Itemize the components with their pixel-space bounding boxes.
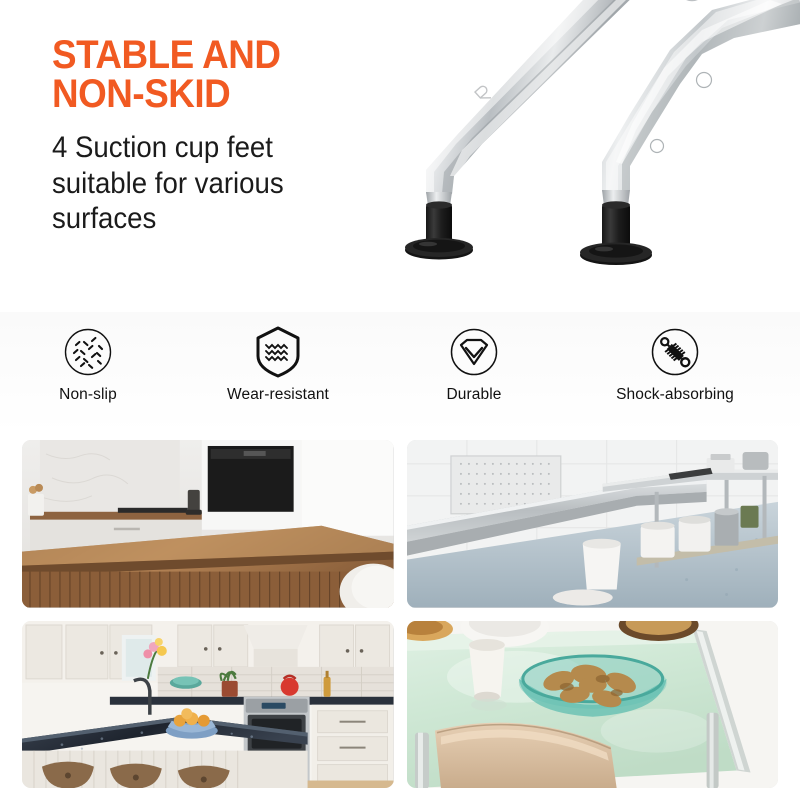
non-slip-texture-icon [14,326,162,378]
spring-shock-absorber-icon [580,326,770,378]
hero-subheadline: 4 Suction cup feet suitable for various … [52,130,328,236]
feature-label: Non-slip [14,386,162,404]
product-marketing-page: STABLE AND NON-SKID 4 Suction cup feet s… [0,0,800,800]
feature-label: Shock-absorbing [580,386,770,404]
feature-wear-resistant: Wear-resistant [202,326,354,404]
hero-copy-block: STABLE AND NON-SKID 4 Suction cup feet s… [52,36,352,237]
hero-section: STABLE AND NON-SKID 4 Suction cup feet s… [0,0,800,312]
product-arm-illustration [330,0,800,312]
feature-durable: Durable [400,326,548,404]
page-title: STABLE AND NON-SKID [52,36,328,114]
diamond-durable-icon [400,326,548,378]
feature-icon-row: Non-slip Wear-resistant [0,312,800,434]
photo-green-glass-table-breakfast [407,621,779,789]
feature-label: Wear-resistant [202,386,354,404]
headline-line-1: STABLE AND [52,33,280,77]
headline-line-2: NON-SKID [52,72,230,116]
shield-wear-resistant-icon [202,326,354,378]
feature-non-slip: Non-slip [14,326,162,404]
photo-commercial-stainless-kitchen [407,440,779,608]
right-leg [580,0,800,265]
application-photo-grid [22,440,778,788]
photo-traditional-white-kitchen [22,621,394,789]
photo-modern-kitchen-wood-island [22,440,394,608]
feature-label: Durable [400,386,548,404]
feature-shock-absorbing: Shock-absorbing [580,326,770,404]
